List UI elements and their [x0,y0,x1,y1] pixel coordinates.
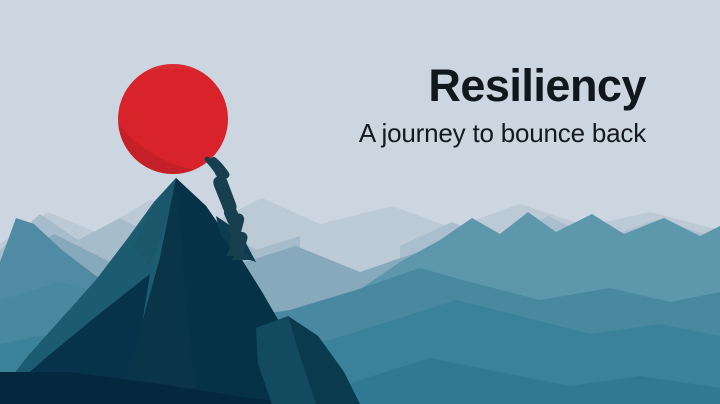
person-pushing-silhouette [205,156,251,260]
page-title: Resiliency [226,62,646,110]
text-block: Resiliency A journey to bounce back [226,62,646,149]
title-card-illustration: Resiliency A journey to bounce back [0,0,720,404]
page-subtitle: A journey to bounce back [226,119,646,149]
